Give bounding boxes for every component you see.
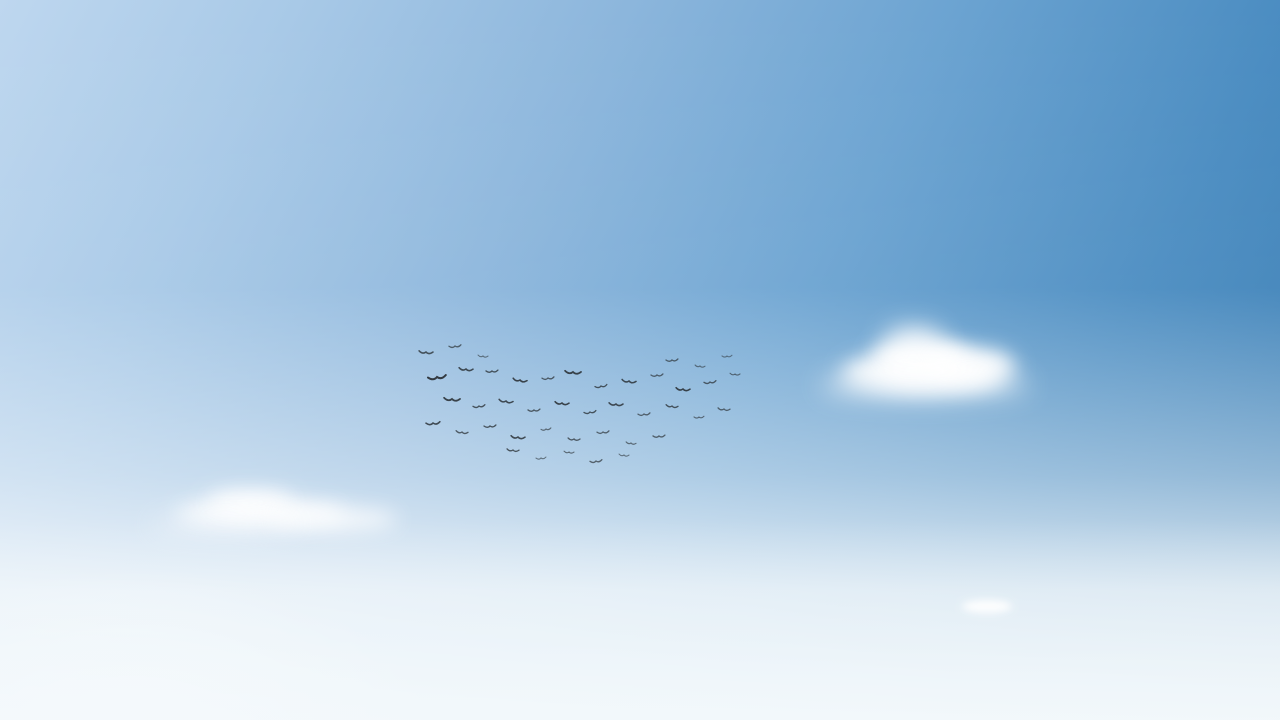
quote-wallpaper: A lot of people have their big dreams an…: [0, 0, 1280, 720]
bird-flock: [0, 0, 1280, 720]
